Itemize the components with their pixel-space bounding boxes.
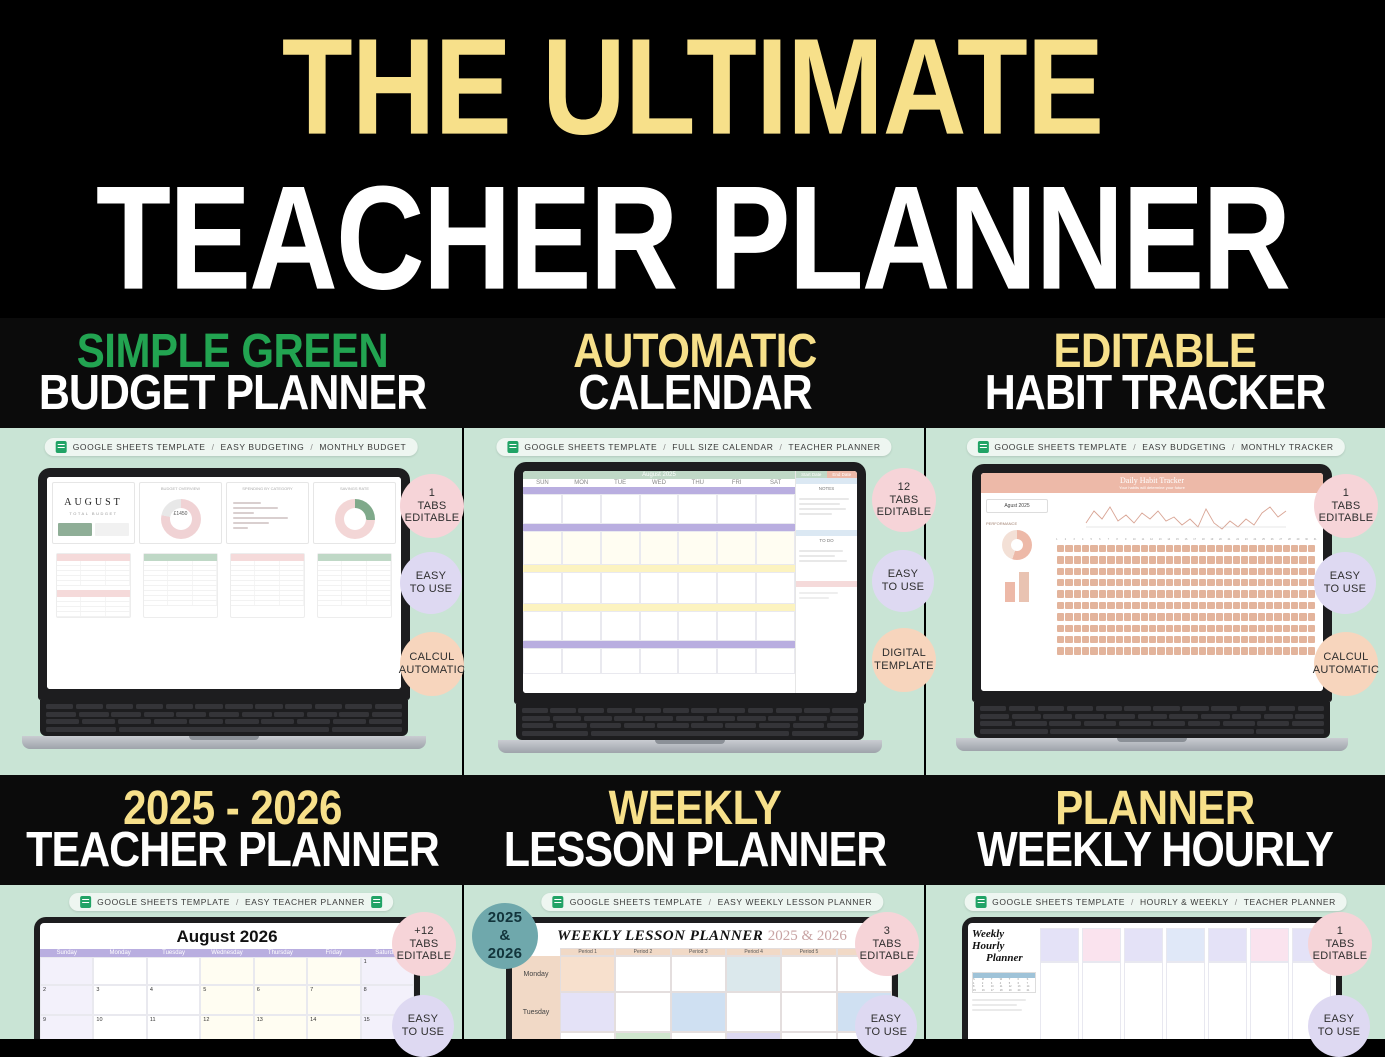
hourly-title-line1: Weekly Hourly bbox=[972, 928, 1036, 952]
badge-year-2: 2026 bbox=[488, 945, 523, 963]
badge-line2: TEMPLATE bbox=[874, 660, 934, 673]
tag-part-3: TEACHER PLANNER bbox=[788, 442, 880, 452]
badge-easy-to-use-1: EASY TO USE bbox=[400, 552, 462, 614]
donut-value: £1450 bbox=[140, 511, 221, 517]
tag-separator: / bbox=[1232, 442, 1235, 452]
weekday-head: Tuesday bbox=[147, 949, 200, 957]
lesson-row-next bbox=[512, 1032, 892, 1039]
tag-separator: / bbox=[310, 442, 313, 452]
badge-line1: EASY bbox=[408, 1013, 439, 1026]
weekday-head: Sunday bbox=[40, 949, 93, 957]
badge-line1: TABS bbox=[417, 500, 446, 513]
tag-separator: / bbox=[1131, 897, 1134, 907]
header-simple-green-budget-planner: SIMPLE GREEN BUDGET PLANNER bbox=[0, 318, 465, 428]
weekday-head: THU bbox=[678, 479, 717, 487]
hourly-day-columns bbox=[1040, 923, 1336, 1039]
badge-number: 12 bbox=[898, 481, 911, 494]
section-label: PERFORMANCE bbox=[986, 521, 1048, 526]
weekday-head: MON bbox=[562, 479, 601, 487]
lesson-planner-years: 2025 & 2026 bbox=[768, 928, 847, 944]
badge-line1: TABS bbox=[889, 494, 918, 507]
tag-part-1: GOOGLE SHEETS TEMPLATE bbox=[97, 897, 230, 907]
budget-spreadsheet: AUGUST TOTAL BUDGET BUDGET OVERVIEW bbox=[47, 477, 401, 689]
badge-line2: TO USE bbox=[402, 1026, 445, 1039]
weekday-head: Friday bbox=[307, 949, 360, 957]
laptop-base bbox=[22, 736, 426, 749]
weekday-head: Thursday bbox=[254, 949, 307, 957]
badge-line1: TABS bbox=[1331, 500, 1360, 513]
panel-tag-hourly: GOOGLE SHEETS TEMPLATE / HOURLY & WEEKLY… bbox=[964, 893, 1347, 911]
tag-separator: / bbox=[236, 897, 239, 907]
side-header-start: Start Date bbox=[796, 471, 827, 478]
bottom-section-headers: 2025 - 2026 TEACHER PLANNER WEEKLY LESSO… bbox=[0, 775, 1385, 885]
weekday-head: TUE bbox=[601, 479, 640, 487]
hourly-day-column[interactable] bbox=[1040, 928, 1079, 1039]
habit-header: Daily Habit Tracker Your habits will det… bbox=[981, 473, 1323, 493]
badge-tabs-editable-1: 1 TABS EDITABLE bbox=[400, 474, 464, 538]
tag-separator: / bbox=[1235, 897, 1238, 907]
badge-line2: AUTOMATIC bbox=[1313, 664, 1379, 677]
laptop-mockup-budget: AUGUST TOTAL BUDGET BUDGET OVERVIEW bbox=[38, 468, 410, 749]
calendar-day-cell[interactable]: 7 bbox=[307, 985, 360, 1015]
tag-part-1: GOOGLE SHEETS TEMPLATE bbox=[994, 442, 1127, 452]
dashboard-cards: AUGUST TOTAL BUDGET BUDGET OVERVIEW bbox=[47, 477, 401, 549]
tag-part-1: GOOGLE SHEETS TEMPLATE bbox=[73, 442, 206, 452]
panel-tag-habit: GOOGLE SHEETS TEMPLATE / EASY BUDGETING … bbox=[966, 438, 1344, 456]
tag-part-2: EASY BUDGETING bbox=[221, 442, 305, 452]
hero-title-line2: TEACHER PLANNER bbox=[0, 165, 1385, 313]
donut-card-1: BUDGET OVERVIEW £1450 bbox=[139, 482, 222, 544]
badge-line1: EASY bbox=[416, 570, 447, 583]
header-line2: HABIT TRACKER bbox=[985, 369, 1326, 419]
badge-number: 1 bbox=[1343, 487, 1349, 500]
calendar-day-cell[interactable]: 3 bbox=[93, 985, 146, 1015]
tag-part-2: EASY BUDGETING bbox=[1142, 442, 1226, 452]
tablet-mockup-calendar: August 2026 Sunday Monday Tuesday Wednes… bbox=[34, 917, 420, 1039]
header-weekly-lesson-planner: WEEKLY LESSON PLANNER bbox=[465, 775, 925, 885]
badge-line2: EDITABLE bbox=[860, 950, 915, 963]
tag-part-3: MONTHLY TRACKER bbox=[1241, 442, 1334, 452]
laptop-keyboard bbox=[40, 700, 408, 736]
calendar-day-cell[interactable] bbox=[40, 957, 93, 985]
top-section-headers: SIMPLE GREEN BUDGET PLANNER AUTOMATIC CA… bbox=[0, 318, 1385, 428]
calendar-day-cell[interactable] bbox=[254, 957, 307, 985]
tag-part-2: HOURLY & WEEKLY bbox=[1140, 897, 1229, 907]
badge-line1: EASY bbox=[871, 1013, 902, 1026]
badge-easy-to-use-5: EASY TO USE bbox=[855, 995, 917, 1057]
tag-separator: / bbox=[212, 442, 215, 452]
badge-tabs-editable-4: +12 TABS EDITABLE bbox=[392, 912, 456, 976]
google-sheets-icon bbox=[977, 441, 988, 453]
period-header: Period 2 bbox=[615, 948, 670, 956]
calendar-day-cell[interactable]: 6 bbox=[254, 985, 307, 1015]
badge-line1: EASY bbox=[888, 568, 919, 581]
month-title: AUGUST bbox=[53, 497, 134, 508]
badge-line2: TO USE bbox=[882, 581, 925, 594]
badge-line1: TABS bbox=[872, 938, 901, 951]
badge-number: 1 bbox=[429, 487, 435, 500]
panel-tag-teacher-planner: GOOGLE SHEETS TEMPLATE / EASY TEACHER PL… bbox=[69, 893, 393, 911]
badge-number: +12 bbox=[414, 925, 434, 938]
header-planner-weekly-hourly: PLANNER WEEKLY HOURLY bbox=[925, 775, 1385, 885]
badge-calcul-automatic-1: CALCUL AUTOMATIC bbox=[400, 632, 464, 696]
hero-title-line1: THE ULTIMATE bbox=[0, 18, 1385, 155]
calendar-day-cell[interactable]: 2 bbox=[40, 985, 93, 1015]
weekday-head: SAT bbox=[756, 479, 795, 487]
badge-calcul-automatic-2: CALCUL AUTOMATIC bbox=[1314, 632, 1378, 696]
budget-table bbox=[230, 553, 305, 618]
bar-card: SPENDING BY CATEGORY bbox=[226, 482, 309, 544]
calendar-day-cell[interactable]: 11 bbox=[147, 1015, 200, 1039]
calendar-day-cell[interactable]: 9 bbox=[40, 1015, 93, 1039]
laptop-screen: AUGUST TOTAL BUDGET BUDGET OVERVIEW bbox=[47, 477, 401, 689]
bottom-product-panels: GOOGLE SHEETS TEMPLATE / EASY TEACHER PL… bbox=[0, 885, 1385, 1039]
tag-part-2: FULL SIZE CALENDAR bbox=[672, 442, 773, 452]
header-editable-habit-tracker: EDITABLE HABIT TRACKER bbox=[925, 318, 1385, 428]
side-header-end: End Date bbox=[827, 471, 858, 478]
month-field[interactable]: Agust 2025 bbox=[986, 499, 1048, 513]
tag-part-1: GOOGLE SHEETS TEMPLATE bbox=[992, 897, 1125, 907]
side-label-todo: TO DO bbox=[796, 536, 857, 545]
donut-card-2: SAVINGS RATE bbox=[313, 482, 396, 544]
bar-chart bbox=[227, 491, 308, 540]
tag-separator: / bbox=[709, 897, 712, 907]
card-title: BUDGET OVERVIEW bbox=[140, 486, 221, 491]
top-product-panels: GOOGLE SHEETS TEMPLATE / EASY BUDGETING … bbox=[0, 428, 1385, 775]
budget-table bbox=[143, 553, 218, 618]
performance-donut bbox=[1002, 530, 1032, 560]
calendar-day-cell[interactable] bbox=[307, 957, 360, 985]
hourly-day-column[interactable] bbox=[1250, 928, 1289, 1039]
weekday-head: SUN bbox=[523, 479, 562, 487]
header-line2: CALENDAR bbox=[578, 369, 811, 419]
hourly-day-column[interactable] bbox=[1124, 928, 1163, 1039]
summary-card: AUGUST TOTAL BUDGET bbox=[52, 482, 135, 544]
panel-tag-calendar: GOOGLE SHEETS TEMPLATE / FULL SIZE CALEN… bbox=[496, 438, 891, 456]
laptop-lid: Daily Habit Tracker Your habits will det… bbox=[972, 464, 1332, 702]
habit-line-chart bbox=[1053, 497, 1319, 535]
header-line2: LESSON PLANNER bbox=[504, 826, 887, 876]
google-sheets-icon bbox=[975, 896, 986, 908]
laptop-base bbox=[498, 740, 882, 753]
badge-tabs-editable-3: 1 TABS EDITABLE bbox=[1314, 474, 1378, 538]
badge-easy-to-use-2: EASY TO USE bbox=[872, 550, 934, 612]
google-sheets-icon bbox=[371, 896, 382, 908]
lesson-row-tuesday: Tuesday bbox=[512, 992, 892, 1032]
badge-line2: TO USE bbox=[1318, 1026, 1361, 1039]
header-automatic-calendar: AUTOMATIC CALENDAR bbox=[465, 318, 925, 428]
panel-habit-tracker: GOOGLE SHEETS TEMPLATE / EASY BUDGETING … bbox=[926, 428, 1385, 775]
badge-line1: TABS bbox=[409, 938, 438, 951]
header-line2: TEACHER PLANNER bbox=[26, 826, 439, 876]
header-line2: BUDGET PLANNER bbox=[39, 369, 426, 419]
weekday-head: Monday bbox=[93, 949, 146, 957]
badge-number: 1 bbox=[1337, 925, 1343, 938]
badge-line1: TABS bbox=[1325, 938, 1354, 951]
calendar-week-row: 1 bbox=[40, 957, 414, 985]
donut-chart bbox=[335, 499, 375, 539]
badge-ampersand: & bbox=[499, 927, 510, 945]
period-header: Period 3 bbox=[671, 948, 726, 956]
card-title: SAVINGS RATE bbox=[314, 486, 395, 491]
tablet-mockup-hourly: Weekly Hourly Planner SMTWTFS 1234567 89… bbox=[962, 917, 1342, 1039]
panel-automatic-calendar: GOOGLE SHEETS TEMPLATE / FULL SIZE CALEN… bbox=[464, 428, 924, 775]
period-header: Period 5 bbox=[781, 948, 836, 956]
habit-spreadsheet: Daily Habit Tracker Your habits will det… bbox=[981, 473, 1323, 691]
calendar-day-cell[interactable] bbox=[200, 957, 253, 985]
badge-years-2025-2026: 2025 & 2026 bbox=[472, 903, 538, 969]
lesson-planner-title: WEEKLY LESSON PLANNER bbox=[557, 928, 763, 944]
badge-digital-template: DIGITAL TEMPLATE bbox=[872, 628, 936, 692]
calendar-day-cell[interactable]: 14 bbox=[307, 1015, 360, 1039]
tag-part-1: GOOGLE SHEETS TEMPLATE bbox=[570, 897, 703, 907]
hero-banner: THE ULTIMATE TEACHER PLANNER bbox=[0, 0, 1385, 318]
laptop-base bbox=[956, 738, 1348, 751]
tag-separator: / bbox=[1133, 442, 1136, 452]
panel-tag-lesson-planner: GOOGLE SHEETS TEMPLATE / EASY WEEKLY LES… bbox=[542, 893, 883, 911]
badge-easy-to-use-3: EASY TO USE bbox=[1314, 552, 1376, 614]
budget-table bbox=[317, 553, 392, 618]
laptop-keyboard bbox=[516, 704, 864, 740]
calendar-title: August 2026 bbox=[40, 923, 414, 949]
badge-line2: TO USE bbox=[865, 1026, 908, 1039]
panel-budget-planner: GOOGLE SHEETS TEMPLATE / EASY BUDGETING … bbox=[0, 428, 462, 775]
calendar-day-cell[interactable]: 10 bbox=[93, 1015, 146, 1039]
habit-subtitle: Your habits will determine your future bbox=[981, 485, 1323, 490]
day-label: Tuesday bbox=[512, 992, 560, 1032]
badge-line1: EASY bbox=[1330, 570, 1361, 583]
weekday-head: FRI bbox=[717, 479, 756, 487]
badge-line2: EDITABLE bbox=[1319, 512, 1374, 525]
badge-line1: EASY bbox=[1324, 1013, 1355, 1026]
badge-line2: EDITABLE bbox=[877, 506, 932, 519]
google-sheets-icon bbox=[56, 441, 67, 453]
panel-tag-budget: GOOGLE SHEETS TEMPLATE / EASY BUDGETING … bbox=[45, 438, 418, 456]
laptop-mockup-habit: Daily Habit Tracker Your habits will det… bbox=[972, 464, 1332, 751]
budget-table bbox=[56, 553, 131, 618]
laptop-lid: August 2025 SUN MON TUE WED THU FRI SAT bbox=[514, 462, 866, 704]
badge-tabs-editable-5: 3 TABS EDITABLE bbox=[855, 912, 919, 976]
donut-chart bbox=[161, 499, 201, 539]
calendar-day-cell[interactable]: 4 bbox=[147, 985, 200, 1015]
calendar-day-cell[interactable]: 12 bbox=[200, 1015, 253, 1039]
period-header: Period 4 bbox=[726, 948, 781, 956]
hourly-title-line2: Planner bbox=[972, 952, 1036, 964]
google-sheets-icon bbox=[507, 441, 518, 453]
calendar-spreadsheet: August 2025 SUN MON TUE WED THU FRI SAT bbox=[523, 471, 857, 693]
hourly-day-column[interactable] bbox=[1166, 928, 1205, 1039]
month-subtitle: TOTAL BUDGET bbox=[53, 511, 134, 516]
tag-separator: / bbox=[779, 442, 782, 452]
period-header: Period 1 bbox=[560, 948, 615, 956]
tag-part-1: GOOGLE SHEETS TEMPLATE bbox=[524, 442, 657, 452]
laptop-mockup-calendar: August 2025 SUN MON TUE WED THU FRI SAT bbox=[514, 462, 866, 753]
badge-number: 3 bbox=[884, 925, 890, 938]
badge-year-1: 2025 bbox=[488, 909, 523, 927]
laptop-screen: Daily Habit Tracker Your habits will det… bbox=[981, 473, 1323, 691]
calendar-week-row: 9 10 11 12 13 14 15 bbox=[40, 1015, 414, 1039]
panel-weekly-lesson-planner: GOOGLE SHEETS TEMPLATE / EASY WEEKLY LES… bbox=[464, 885, 924, 1039]
tag-part-2: EASY WEEKLY LESSON PLANNER bbox=[718, 897, 873, 907]
tablet-mockup-lesson: WEEKLY LESSON PLANNER 2025 & 2026 Period… bbox=[506, 917, 898, 1039]
tag-part-2: EASY TEACHER PLANNER bbox=[245, 897, 365, 907]
badge-line1: DIGITAL bbox=[882, 647, 926, 660]
hourly-day-column[interactable] bbox=[1082, 928, 1121, 1039]
google-sheets-icon bbox=[80, 896, 91, 908]
weekday-head: WED bbox=[640, 479, 679, 487]
tag-part-3: MONTHLY BUDGET bbox=[319, 442, 406, 452]
google-sheets-icon bbox=[553, 896, 564, 908]
badge-tabs-editable-6: 1 TABS EDITABLE bbox=[1308, 912, 1372, 976]
side-label-notes: NOTES bbox=[796, 484, 857, 493]
laptop-lid: AUGUST TOTAL BUDGET BUDGET OVERVIEW bbox=[38, 468, 410, 700]
calendar-day-cell[interactable]: 5 bbox=[200, 985, 253, 1015]
lesson-row-monday: Monday bbox=[512, 956, 892, 992]
badge-easy-to-use-4: EASY TO USE bbox=[392, 995, 454, 1057]
header-line2: WEEKLY HOURLY bbox=[977, 826, 1333, 876]
habit-title: Daily Habit Tracker bbox=[981, 476, 1323, 485]
header-2025-2026-teacher-planner: 2025 - 2026 TEACHER PLANNER bbox=[0, 775, 465, 885]
calendar-week-row: 2 3 4 5 6 7 8 bbox=[40, 985, 414, 1015]
laptop-keyboard bbox=[974, 702, 1330, 738]
badge-line2: TO USE bbox=[1324, 583, 1367, 596]
badge-line2: TO USE bbox=[410, 583, 453, 596]
laptop-screen: August 2025 SUN MON TUE WED THU FRI SAT bbox=[523, 471, 857, 693]
badge-line1: CALCUL bbox=[409, 651, 454, 664]
tag-separator: / bbox=[663, 442, 666, 452]
badge-line2: AUTOMATIC bbox=[399, 664, 465, 677]
calendar-day-cell[interactable] bbox=[93, 957, 146, 985]
weekday-head: Wednesday bbox=[200, 949, 253, 957]
badge-line2: EDITABLE bbox=[1313, 950, 1368, 963]
badge-line2: EDITABLE bbox=[405, 512, 460, 525]
habit-grid bbox=[1053, 543, 1319, 657]
badge-line2: EDITABLE bbox=[397, 950, 452, 963]
calendar-day-cell[interactable] bbox=[147, 957, 200, 985]
badge-easy-to-use-6: EASY TO USE bbox=[1308, 995, 1370, 1057]
badge-line1: CALCUL bbox=[1323, 651, 1368, 664]
tag-part-3: TEACHER PLANNER bbox=[1244, 897, 1336, 907]
calendar-day-cell[interactable]: 13 bbox=[254, 1015, 307, 1039]
calendar-month-title: August 2025 bbox=[523, 471, 795, 479]
hourly-day-column[interactable] bbox=[1208, 928, 1247, 1039]
badge-tabs-editable-2: 12 TABS EDITABLE bbox=[872, 468, 936, 532]
